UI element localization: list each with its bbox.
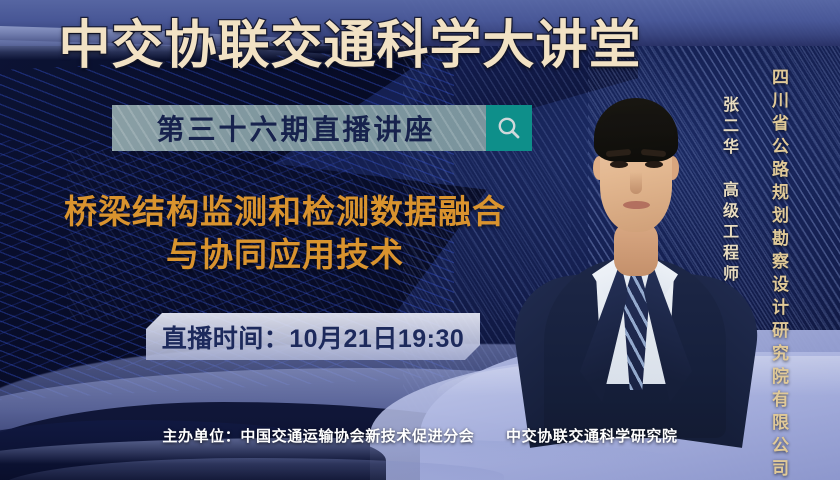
organizer-footer: 主办单位：中国交通运输协会新技术促进分会 中交协联交通科学研究院 [0, 425, 840, 446]
speaker-name-title: 张二华 高级工程师 [716, 96, 740, 286]
hair-fringe [598, 114, 674, 140]
nose [630, 172, 642, 194]
lecture-topic-line-1: 桥梁结构监测和检测数据融合 [64, 193, 506, 230]
speaker-portrait [540, 62, 730, 434]
mouth [623, 201, 650, 209]
page-title: 中交协联交通科学大讲堂 [0, 16, 700, 76]
organizer-secondary: 中交协联交通科学研究院 [506, 428, 678, 445]
broadcast-time-label: 直播时间：10月21日19:30 [162, 319, 465, 355]
broadcast-time-banner: 直播时间：10月21日19:30 [146, 313, 480, 360]
search-icon[interactable] [486, 105, 532, 151]
session-subtitle-label: 第三十六期直播讲座 [112, 108, 486, 148]
eye-right [645, 161, 663, 168]
speaker-organization: 四川省公路规划勘察设计研究院有限公司 [766, 68, 791, 480]
lecture-topic: 桥梁结构监测和检测数据融合 与协同应用技术 [20, 190, 550, 276]
lecture-topic-line-2: 与协同应用技术 [20, 233, 550, 276]
organizer-primary: 主办单位：中国交通运输协会新技术促进分会 [162, 428, 474, 445]
eye-left [610, 161, 628, 168]
webinar-poster: 中交协联交通科学大讲堂 第三十六期直播讲座 桥梁结构监测和检测数据融合 与协同应… [0, 0, 840, 480]
session-subtitle-bar: 第三十六期直播讲座 [112, 105, 532, 151]
